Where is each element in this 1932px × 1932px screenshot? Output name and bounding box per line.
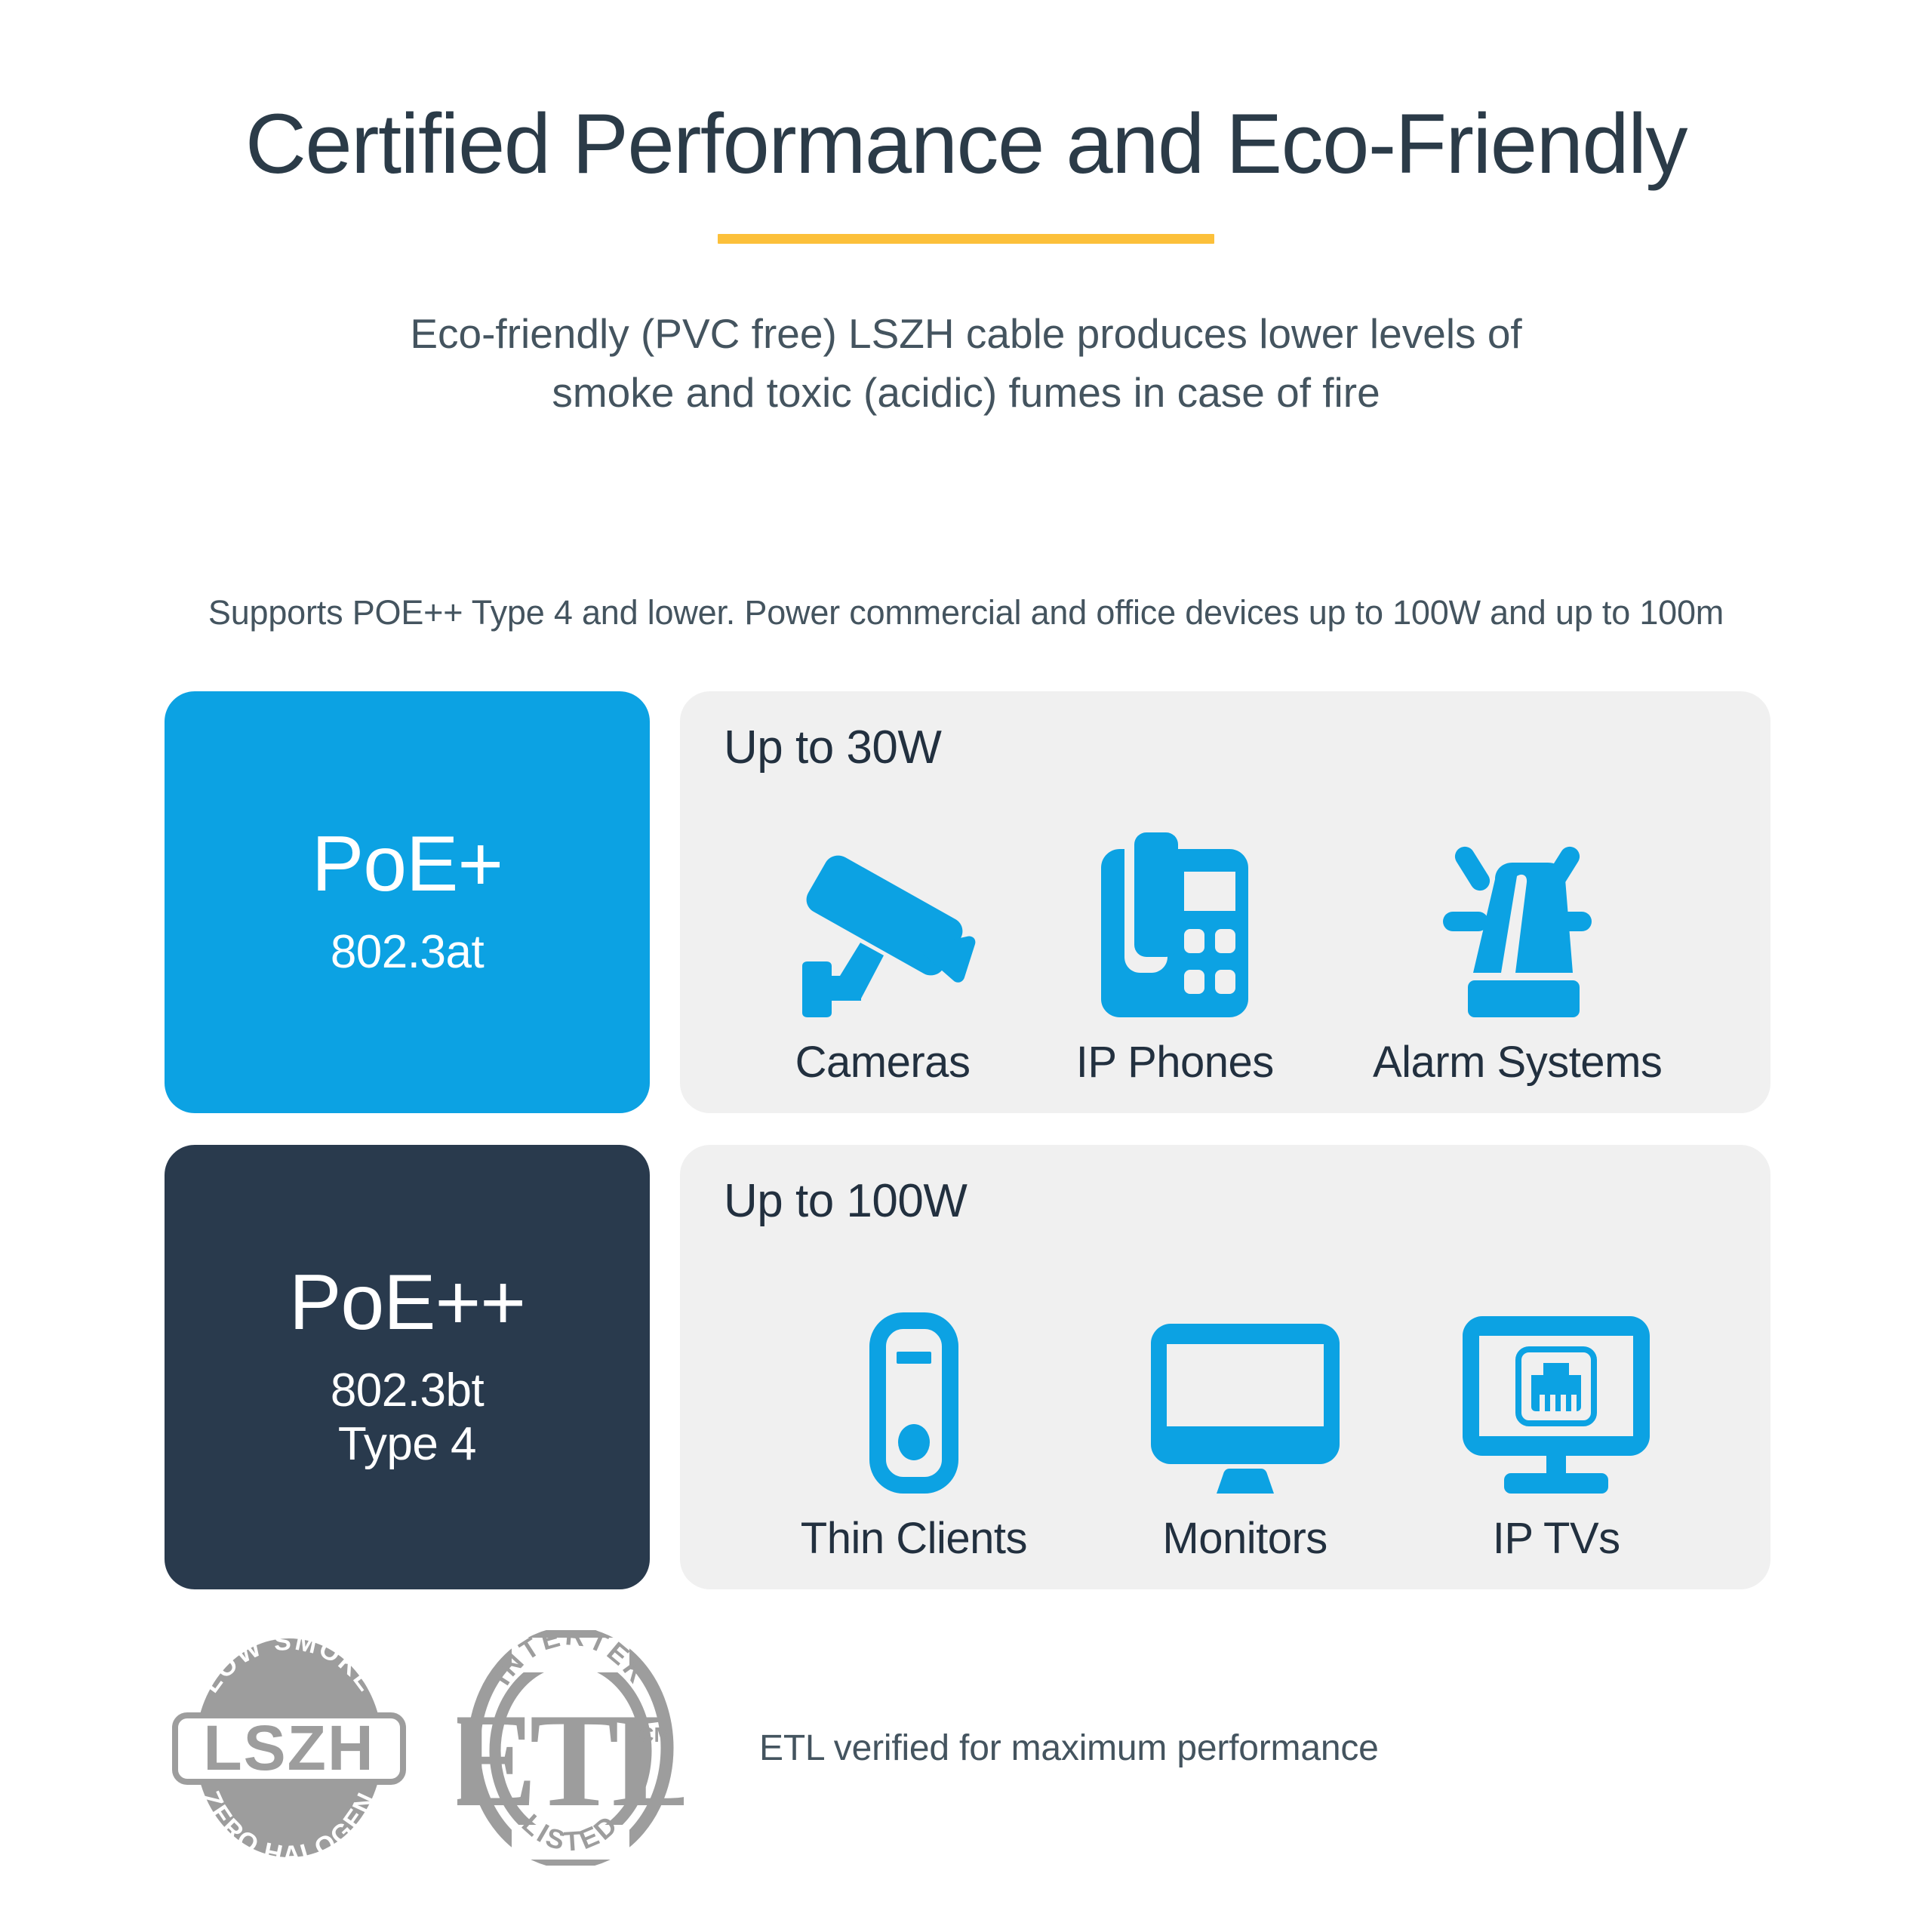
certification-row: LSZH LOW SMOKE ZERO HALOGEN ETL CM bbox=[165, 1630, 1379, 1866]
badge-card-poe-plus-plus: PoE++ 802.3bt Type 4 bbox=[165, 1145, 650, 1589]
badge-type-line: Type 4 bbox=[331, 1418, 484, 1472]
lszh-badge: LSZH LOW SMOKE ZERO HALOGEN bbox=[165, 1630, 414, 1866]
power-row-poe-plus-plus: PoE++ 802.3bt Type 4 Up to 100W bbox=[165, 1145, 1770, 1589]
device-label: Thin Clients bbox=[801, 1513, 1027, 1564]
badge-title: PoE++ bbox=[289, 1263, 525, 1342]
badge-standard: 802.3at bbox=[331, 926, 484, 980]
badge-standard-line: 802.3bt bbox=[331, 1364, 484, 1418]
infographic-page: Certified Performance and Eco-Friendly E… bbox=[0, 0, 1932, 1932]
subtitle-line-1: Eco-friendly (PVC free) LSZH cable produ… bbox=[0, 304, 1932, 363]
etl-center-text: ETL bbox=[457, 1685, 684, 1835]
badge-card-poe-plus: PoE+ 802.3at bbox=[165, 691, 650, 1113]
device-grid-100w: Thin Clients Monitors bbox=[724, 1225, 1727, 1564]
power-classes-block: PoE+ 802.3at Up to 30W bbox=[165, 691, 1770, 1589]
support-note: Supports POE++ Type 4 and lower. Power c… bbox=[0, 593, 1932, 632]
power-row-poe-plus: PoE+ 802.3at Up to 30W bbox=[165, 691, 1770, 1113]
device-thin-clients: Thin Clients bbox=[801, 1305, 1027, 1564]
device-label: IP Phones bbox=[1076, 1037, 1274, 1088]
thin-client-icon bbox=[869, 1305, 958, 1494]
header-subtitle: Eco-friendly (PVC free) LSZH cable produ… bbox=[0, 304, 1932, 422]
ip-phone-icon bbox=[1101, 829, 1248, 1017]
alarm-siren-icon bbox=[1425, 829, 1610, 1017]
monitor-icon bbox=[1151, 1305, 1340, 1494]
header: Certified Performance and Eco-Friendly E… bbox=[0, 0, 1932, 422]
device-grid-30w: Cameras bbox=[724, 771, 1727, 1088]
lszh-center-text: LSZH bbox=[203, 1712, 374, 1783]
title-accent-rule bbox=[718, 234, 1214, 244]
device-panel-100w: Up to 100W Thin Clients bbox=[680, 1145, 1770, 1589]
etl-superscript-text: CM bbox=[638, 1723, 672, 1746]
badge-title: PoE+ bbox=[312, 825, 503, 903]
panel-heading-30w: Up to 30W bbox=[724, 724, 1727, 771]
device-monitors: Monitors bbox=[1151, 1305, 1340, 1564]
etl-listed-badge: ETL CM INTERTEK LISTED bbox=[457, 1630, 684, 1866]
page-title: Certified Performance and Eco-Friendly bbox=[0, 100, 1932, 189]
panel-heading-100w: Up to 100W bbox=[724, 1178, 1727, 1225]
ip-tv-icon bbox=[1463, 1305, 1650, 1494]
device-label: IP TVs bbox=[1493, 1513, 1620, 1564]
security-camera-icon bbox=[789, 829, 977, 1017]
device-label: Alarm Systems bbox=[1373, 1037, 1662, 1088]
device-alarm-systems: Alarm Systems bbox=[1373, 829, 1662, 1088]
subtitle-line-2: smoke and toxic (acidic) fumes in case o… bbox=[0, 363, 1932, 422]
device-label: Cameras bbox=[795, 1037, 971, 1088]
device-ip-tvs: IP TVs bbox=[1463, 1305, 1650, 1564]
device-ip-phones: IP Phones bbox=[1076, 829, 1274, 1088]
device-panel-30w: Up to 30W Cameras bbox=[680, 691, 1770, 1113]
device-label: Monitors bbox=[1162, 1513, 1327, 1564]
device-cameras: Cameras bbox=[789, 829, 977, 1088]
certification-caption: ETL verified for maximum performance bbox=[759, 1727, 1379, 1769]
badge-standard: 802.3bt Type 4 bbox=[331, 1364, 484, 1471]
